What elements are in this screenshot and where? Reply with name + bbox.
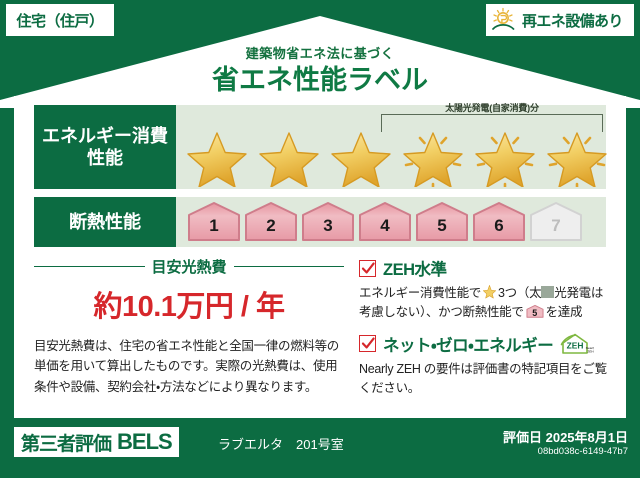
zeh-standard-checkbox[interactable] <box>359 260 376 277</box>
insulation-level-number: 1 <box>186 216 242 236</box>
net-zero-energy-body: Nearly ZEH の要件は評価書の特記項目をご覧ください。 <box>359 360 614 399</box>
star-icon-solar <box>398 121 468 187</box>
energy-performance-label-text: エネルギー消費性能 <box>34 125 176 170</box>
star-icon-solar <box>542 121 612 187</box>
insulation-level-badge-inline: 5 <box>526 304 544 319</box>
building-name: ラブエルタ 201号室 <box>218 434 344 453</box>
solar-bracket-label: 太陽光発電(自家消費)分 <box>376 101 608 114</box>
insulation-level-house-inactive: 7 <box>528 201 584 243</box>
evaluation-date: 評価日 2025年8月1日 <box>503 427 628 446</box>
zeh-standard-body: エネルギー消費性能で3つ（太光発電は考慮しない）、かつ断熱性能で5を達成 <box>359 284 614 323</box>
insulation-performance-label-text: 断熱性能 <box>69 211 141 234</box>
insulation-level-number: 5 <box>414 216 470 236</box>
net-zero-energy-checkbox[interactable] <box>359 335 376 352</box>
insulation-level-house: 6 <box>471 201 527 243</box>
star-rating <box>182 121 612 187</box>
bels-certification-badge: 第三者評価 BELS <box>14 427 179 457</box>
utility-cost-block: 目安光熱費 約10.1万円 / 年 目安光熱費は、住宅の省エネ性能と全国一律の燃… <box>34 256 344 397</box>
footer-bar: 第三者評価 BELS ラブエルタ 201号室 評価日 2025年8月1日 08b… <box>0 418 640 478</box>
insulation-level-house: 2 <box>243 201 299 243</box>
evaluation-id: 08bd038c-6149-47b7 <box>538 446 628 457</box>
divider-right <box>234 266 345 267</box>
check-icon <box>361 261 376 276</box>
divider-left <box>34 266 145 267</box>
energy-performance-stars-panel: 太陽光発電(自家消費)分 <box>176 105 606 189</box>
sun-solar-icon <box>490 7 520 33</box>
star-icon <box>326 121 396 187</box>
zeh-standard-title: ZEH水準 <box>383 256 447 280</box>
third-party-eval-label: 第三者評価 <box>21 429 111 456</box>
net-zero-energy-item: ネット・ゼロ・エネルギー ZEH Nearly ZEH Nearly ZEH の… <box>359 332 614 399</box>
energy-performance-label-box: エネルギー消費性能 <box>34 105 176 189</box>
building-type-badge-label: 住宅（住戸） <box>16 10 103 31</box>
insulation-level-house: 1 <box>186 201 242 243</box>
insulation-performance-row: 断熱性能 1 <box>34 197 606 247</box>
net-zero-energy-title: ネット・ゼロ・エネルギー <box>383 332 553 356</box>
utility-cost-heading-text: 目安光熱費 <box>152 256 227 277</box>
svg-text:ZEH: ZEH <box>588 349 595 353</box>
insulation-level-number: 7 <box>528 216 584 236</box>
zeh-house-logo-icon: ZEH Nearly ZEH <box>560 332 594 356</box>
energy-performance-label: 住宅（住戸） 再エネ設備あり 建築物省エネ法に基づく 省エネ性能ラベル エネルギ <box>0 0 640 478</box>
star-icon-inline <box>482 284 497 299</box>
insulation-level-number: 4 <box>357 216 413 236</box>
star-icon <box>182 121 252 187</box>
net-zero-energy-header: ネット・ゼロ・エネルギー ZEH Nearly ZEH <box>359 332 614 356</box>
zeh-standard-item: ZEH水準 エネルギー消費性能で3つ（太光発電は考慮しない）、かつ断熱性能で5を… <box>359 256 614 323</box>
insulation-performance-label-box: 断熱性能 <box>34 197 176 247</box>
insulation-level-house: 5 <box>414 201 470 243</box>
utility-cost-heading: 目安光熱費 <box>34 256 344 277</box>
utility-cost-value: 約10.1万円 / 年 <box>34 283 344 325</box>
svg-text:ZEH: ZEH <box>567 340 584 350</box>
bels-label: BELS <box>117 429 172 455</box>
zeh-standard-body-mid: 3つ（太 <box>498 286 541 300</box>
insulation-level-number: 3 <box>300 216 356 236</box>
utility-cost-note: 目安光熱費は、住宅の省エネ性能と全国一律の燃料等の単価を用いて算出したものです。… <box>34 336 344 397</box>
insulation-levels-panel: 1 2 3 <box>176 197 606 247</box>
renewable-equipment-badge-label: 再エネ設備あり <box>522 10 623 31</box>
zeh-standard-header: ZEH水準 <box>359 256 614 280</box>
insulation-level-house: 4 <box>357 201 413 243</box>
zeh-section: ZEH水準 エネルギー消費性能で3つ（太光発電は考慮しない）、かつ断熱性能で5を… <box>359 256 614 408</box>
renewable-equipment-badge: 再エネ設備あり <box>486 4 634 36</box>
zeh-standard-body-pre: エネルギー消費性能で <box>359 286 481 300</box>
star-icon-solar <box>470 121 540 187</box>
page-title: 省エネ性能ラベル <box>0 58 640 97</box>
energy-performance-row: エネルギー消費性能 太陽光発電(自家消費)分 <box>34 105 606 189</box>
building-type-badge: 住宅（住戸） <box>6 4 114 36</box>
insulation-level-badge-number: 5 <box>526 307 544 321</box>
star-icon <box>254 121 324 187</box>
insulation-level-scale: 1 2 3 <box>186 201 584 243</box>
check-icon <box>361 336 376 351</box>
redaction-mark <box>541 286 554 298</box>
label-card: エネルギー消費性能 太陽光発電(自家消費)分 <box>14 96 626 418</box>
insulation-level-number: 2 <box>243 216 299 236</box>
insulation-level-house: 3 <box>300 201 356 243</box>
zeh-standard-body-post: を達成 <box>546 305 583 319</box>
insulation-level-number: 6 <box>471 216 527 236</box>
